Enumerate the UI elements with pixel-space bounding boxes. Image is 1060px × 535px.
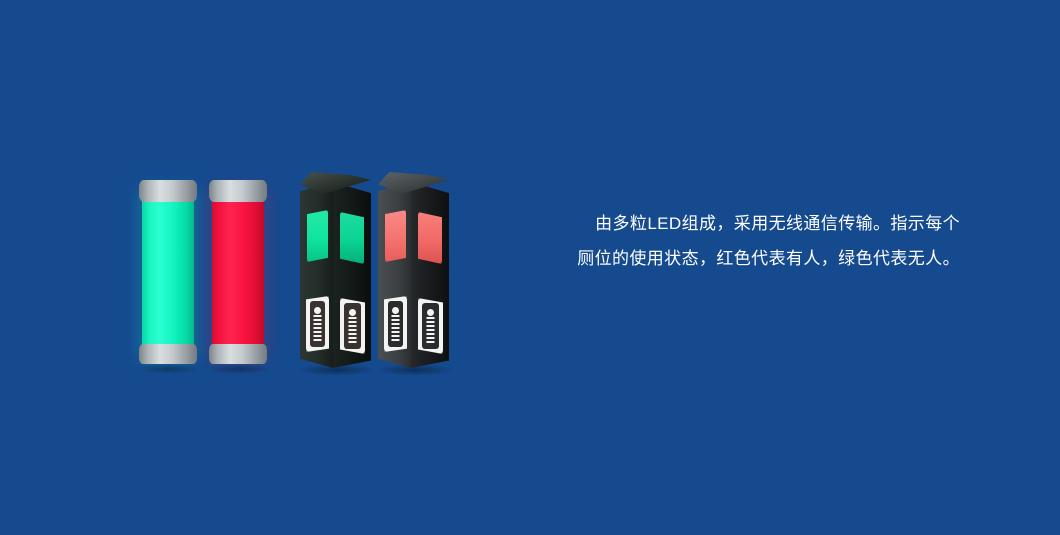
cylinder-led-body-red <box>212 190 264 358</box>
pictogram-inner <box>310 301 325 347</box>
prism-indicator-green <box>300 168 374 373</box>
person-icon-head <box>314 307 321 314</box>
person-icon <box>391 307 400 341</box>
person-icon-head <box>349 309 356 316</box>
person-icon-head <box>392 307 399 314</box>
person-icon-head <box>427 309 434 316</box>
person-icon-body <box>427 317 435 343</box>
product-description: 由多粒LED组成，采用无线通信传输。指示每个 厕位的使用状态，红色代表有人，绿色… <box>470 206 960 276</box>
cylinder-bottom-cap <box>139 344 197 364</box>
description-line-1: 由多粒LED组成，采用无线通信传输。指示每个 <box>470 206 960 241</box>
pictogram-panel-right <box>418 298 443 354</box>
status-light-panel-right <box>340 212 364 264</box>
product-image-group <box>130 160 460 385</box>
person-icon <box>348 309 357 343</box>
pictogram-panel-left <box>306 296 329 352</box>
cylinder-top-cap <box>139 180 197 202</box>
pictogram-inner <box>344 303 361 349</box>
person-icon <box>426 309 435 343</box>
person-icon-body <box>392 315 400 341</box>
status-light-panel-left <box>385 210 406 262</box>
pictogram-panel-right <box>340 298 365 354</box>
drop-shadow <box>138 364 200 374</box>
description-line-2: 厕位的使用状态，红色代表有人，绿色代表无人。 <box>470 241 960 276</box>
prism-indicator-red <box>378 168 452 373</box>
cylinder-indicator-green <box>142 178 194 368</box>
cylinder-led-body-green <box>142 190 194 358</box>
drop-shadow <box>208 364 270 374</box>
person-icon <box>313 307 322 341</box>
person-icon-body <box>349 317 357 343</box>
cylinder-bottom-cap <box>209 344 267 364</box>
pictogram-panel-left <box>384 296 407 352</box>
status-light-panel-right <box>418 212 442 264</box>
pictogram-inner <box>422 303 439 349</box>
product-showcase-stage: 由多粒LED组成，采用无线通信传输。指示每个 厕位的使用状态，红色代表有人，绿色… <box>0 0 1060 535</box>
status-light-panel-left <box>307 210 328 262</box>
pictogram-inner <box>388 301 403 347</box>
person-icon-body <box>314 315 322 341</box>
cylinder-top-cap <box>209 180 267 202</box>
cylinder-indicator-red <box>212 178 264 368</box>
